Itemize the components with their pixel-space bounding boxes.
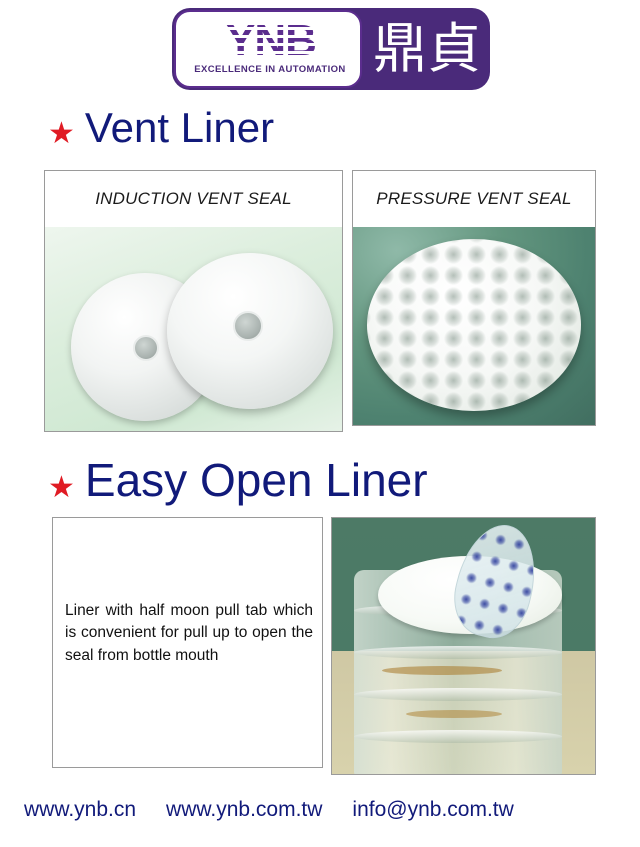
link-email[interactable]: info@ynb.com.tw bbox=[352, 798, 513, 822]
logo-brand-letters: YNB bbox=[188, 18, 354, 64]
logo-brand-text: YNB bbox=[226, 19, 316, 63]
panel-easy-open-description: Liner with half moon pull tab which is c… bbox=[52, 517, 323, 768]
bottle-thread bbox=[354, 646, 562, 659]
bottle-contents-highlight bbox=[406, 710, 502, 718]
bottle-thread bbox=[354, 730, 562, 743]
vent-hole-icon bbox=[233, 311, 263, 341]
vent-hole-icon bbox=[133, 335, 159, 361]
bottle-contents-highlight bbox=[382, 666, 502, 675]
panel-caption: INDUCTION VENT SEAL bbox=[45, 171, 342, 227]
star-icon: ★ bbox=[48, 473, 75, 503]
logo-tagline: EXCELLENCE IN AUTOMATION bbox=[176, 64, 364, 75]
section-title-text: Vent Liner bbox=[85, 104, 274, 152]
liner-disc-right bbox=[167, 253, 333, 409]
section-heading-vent-liner: ★ Vent Liner bbox=[48, 104, 274, 152]
footer-contact-bar: www.ynb.cn www.ynb.com.tw info@ynb.com.t… bbox=[0, 793, 640, 827]
bottle-thread bbox=[354, 688, 562, 701]
photo-induction-vent-seal-discs bbox=[45, 227, 342, 431]
star-icon: ★ bbox=[48, 119, 75, 149]
dimple-pattern bbox=[367, 239, 581, 411]
logo-chinese-name: 鼎貞 bbox=[368, 12, 486, 86]
panel-easy-open-photo bbox=[331, 517, 596, 775]
panel-caption: PRESSURE VENT SEAL bbox=[353, 171, 595, 227]
link-website-cn[interactable]: www.ynb.cn bbox=[24, 798, 136, 822]
panel-pressure-vent-seal: PRESSURE VENT SEAL bbox=[352, 170, 596, 426]
dimpled-liner-disc bbox=[367, 239, 581, 411]
section-title-text: Easy Open Liner bbox=[85, 453, 428, 507]
company-logo: YNB EXCELLENCE IN AUTOMATION 鼎貞 bbox=[172, 8, 490, 90]
panel-induction-vent-seal: INDUCTION VENT SEAL bbox=[44, 170, 343, 432]
link-website-tw[interactable]: www.ynb.com.tw bbox=[166, 798, 322, 822]
easy-open-description-text: Liner with half moon pull tab which is c… bbox=[65, 600, 313, 667]
section-heading-easy-open-liner: ★ Easy Open Liner bbox=[48, 453, 428, 507]
logo-white-plate: YNB EXCELLENCE IN AUTOMATION bbox=[174, 10, 362, 88]
photo-bottle-with-pull-tab-liner bbox=[332, 518, 595, 774]
photo-pressure-vent-seal-disc bbox=[353, 227, 595, 425]
